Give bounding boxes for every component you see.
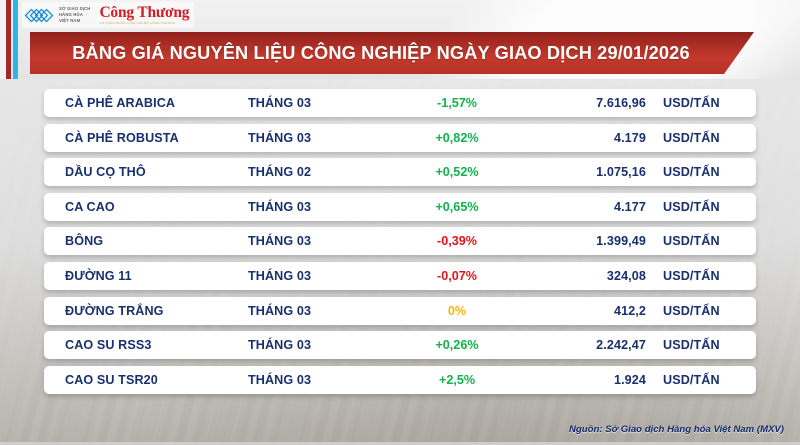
contract-month: THÁNG 03 [248, 96, 388, 110]
commodity-name: ĐƯỜNG TRẮNG [44, 304, 248, 318]
price-unit: USD/TẤN [646, 131, 742, 145]
congthuong-wordmark: Công Thương [99, 5, 189, 21]
price-value: 324,08 [526, 269, 646, 283]
mxv-line-3: VIỆT NAM [59, 18, 90, 24]
contract-month: THÁNG 03 [248, 131, 388, 145]
contract-month: THÁNG 03 [248, 200, 388, 214]
change-percent: 0% [388, 304, 526, 318]
commodity-name: CAO SU TSR20 [44, 373, 248, 387]
price-value: 1.075,16 [526, 165, 646, 179]
table-row: CA CAOTHÁNG 03+0,65%4.177USD/TẤN [44, 193, 756, 221]
price-unit: USD/TẤN [646, 165, 742, 179]
price-value: 4.177 [526, 200, 646, 214]
commodity-name: CA CAO [44, 200, 248, 214]
mxv-wordmark: SỞ GIAO DỊCH HÀNG HÓA VIỆT NAM [59, 6, 90, 23]
change-percent: -0,07% [388, 269, 526, 283]
change-percent: -0,39% [388, 234, 526, 248]
change-percent: -1,57% [388, 96, 526, 110]
price-table: CÀ PHÊ ARABICATHÁNG 03-1,57%7.616,96USD/… [44, 89, 756, 400]
contract-month: THÁNG 03 [248, 304, 388, 318]
price-unit: USD/TẤN [646, 338, 742, 352]
table-row: ĐƯỜNG TRẮNGTHÁNG 030%412,2USD/TẤN [44, 297, 756, 325]
congthuong-logo: Công Thương CƠ QUAN NGÔN LUẬN CỦA BỘ CÔN… [99, 5, 189, 26]
price-board-infographic: SỞ GIAO DỊCH HÀNG HÓA VIỆT NAM Công Thươ… [0, 0, 800, 445]
price-value: 4.179 [526, 131, 646, 145]
contract-month: THÁNG 03 [248, 234, 388, 248]
commodity-name: ĐƯỜNG 11 [44, 269, 248, 283]
commodity-name: DẦU CỌ THÔ [44, 165, 248, 179]
logo-lockup: SỞ GIAO DỊCH HÀNG HÓA VIỆT NAM Công Thươ… [22, 2, 194, 28]
price-value: 7.616,96 [526, 96, 646, 110]
price-value: 412,2 [526, 304, 646, 318]
header-bar: SỞ GIAO DỊCH HÀNG HÓA VIỆT NAM Công Thươ… [0, 0, 800, 79]
price-value: 2.242,47 [526, 338, 646, 352]
price-unit: USD/TẤN [646, 269, 742, 283]
price-value: 1.399,49 [526, 234, 646, 248]
price-value: 1.924 [526, 373, 646, 387]
contract-month: THÁNG 03 [248, 269, 388, 283]
contract-month: THÁNG 03 [248, 373, 388, 387]
table-row: CÀ PHÊ ROBUSTATHÁNG 03+0,82%4.179USD/TẤN [44, 124, 756, 152]
change-percent: +0,52% [388, 165, 526, 179]
commodity-name: BÔNG [44, 234, 248, 248]
price-unit: USD/TẤN [646, 373, 742, 387]
price-unit: USD/TẤN [646, 96, 742, 110]
table-row: CAO SU RSS3THÁNG 03+0,26%2.242,47USD/TẤN [44, 331, 756, 359]
price-unit: USD/TẤN [646, 234, 742, 248]
table-row: BÔNGTHÁNG 03-0,39%1.399,49USD/TẤN [44, 227, 756, 255]
change-percent: +0,26% [388, 338, 526, 352]
commodity-name: CAO SU RSS3 [44, 338, 248, 352]
title-banner: BẢNG GIÁ NGUYÊN LIỆU CÔNG NGHIỆP NGÀY GI… [30, 32, 754, 74]
contract-month: THÁNG 02 [248, 165, 388, 179]
mxv-chevron-mark-icon [24, 7, 54, 24]
left-accent-stripe-red [6, 0, 11, 79]
table-row: CÀ PHÊ ARABICATHÁNG 03-1,57%7.616,96USD/… [44, 89, 756, 117]
page-title: BẢNG GIÁ NGUYÊN LIỆU CÔNG NGHIỆP NGÀY GI… [72, 43, 711, 64]
change-percent: +0,65% [388, 200, 526, 214]
change-percent: +0,82% [388, 131, 526, 145]
commodity-name: CÀ PHÊ ARABICA [44, 96, 248, 110]
commodity-name: CÀ PHÊ ROBUSTA [44, 131, 248, 145]
table-row: DẦU CỌ THÔTHÁNG 02+0,52%1.075,16USD/TẤN [44, 158, 756, 186]
contract-month: THÁNG 03 [248, 338, 388, 352]
change-percent: +2,5% [388, 373, 526, 387]
congthuong-tagline: CƠ QUAN NGÔN LUẬN CỦA BỘ CÔNG THƯƠNG [99, 21, 189, 25]
table-row: CAO SU TSR20THÁNG 03+2,5%1.924USD/TẤN [44, 366, 756, 394]
left-accent-stripe-cyan [13, 0, 18, 79]
price-unit: USD/TẤN [646, 304, 742, 318]
source-note: Nguồn: Sở Giao dịch Hàng hóa Việt Nam (M… [569, 424, 784, 435]
table-row: ĐƯỜNG 11THÁNG 03-0,07%324,08USD/TẤN [44, 262, 756, 290]
price-unit: USD/TẤN [646, 200, 742, 214]
